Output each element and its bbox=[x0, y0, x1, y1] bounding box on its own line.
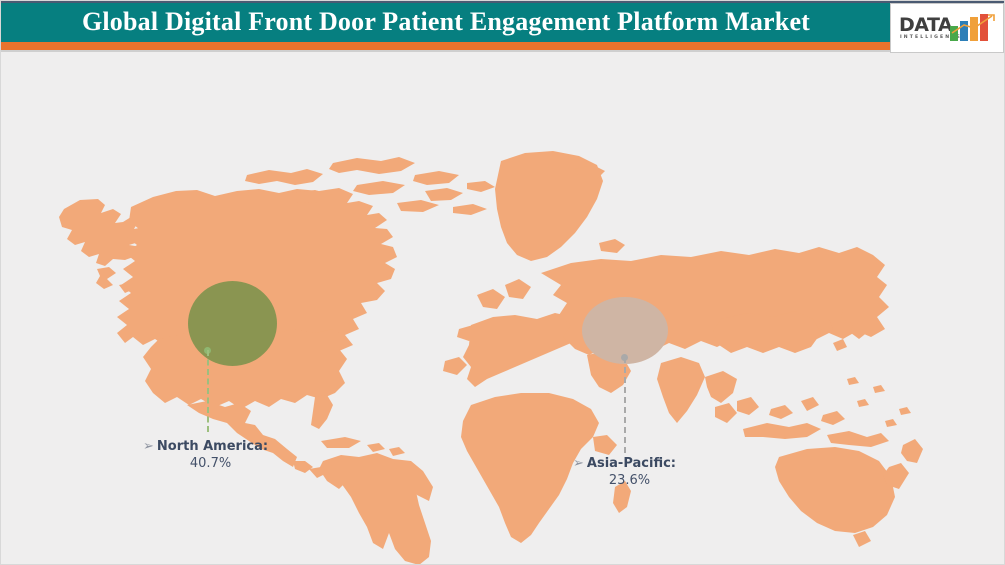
callout-north-america: ➢North America: 40.7% bbox=[143, 438, 268, 473]
bubble-marker-north-america[interactable] bbox=[188, 281, 277, 366]
callout-label-row: ➢North America: bbox=[143, 438, 268, 455]
callout-label-row: ➢Asia-Pacific: bbox=[573, 455, 676, 472]
bullet-arrow-icon: ➢ bbox=[573, 456, 584, 471]
logo-wordmark: DATA bbox=[899, 16, 952, 35]
callout-value-north-america: 40.7% bbox=[143, 455, 268, 473]
leader-line-north-america bbox=[207, 350, 209, 432]
bullet-arrow-icon: ➢ bbox=[143, 439, 154, 454]
leader-line-asia-pacific bbox=[624, 357, 626, 453]
callout-label-north-america: North America: bbox=[157, 439, 268, 454]
callout-asia-pacific: ➢Asia-Pacific: 23.6% bbox=[573, 455, 676, 490]
slide-canvas: Global Digital Front Door Patient Engage… bbox=[0, 0, 1005, 565]
world-map: ➢North America: 40.7% ➢Asia-Pacific: 23.… bbox=[1, 57, 1005, 565]
logo-inner: DATA INTELLIGENCE bbox=[897, 10, 997, 46]
bar-chart-icon bbox=[950, 14, 996, 41]
growth-arrow-icon bbox=[950, 14, 996, 41]
header-accent-bar bbox=[1, 42, 1005, 50]
callout-label-asia-pacific: Asia-Pacific: bbox=[587, 456, 676, 471]
world-map-svg bbox=[1, 57, 1005, 565]
callout-value-asia-pacific: 23.6% bbox=[573, 472, 676, 490]
header: Global Digital Front Door Patient Engage… bbox=[1, 1, 1005, 57]
page-title: Global Digital Front Door Patient Engage… bbox=[1, 1, 891, 42]
landmasses bbox=[59, 151, 923, 565]
brand-logo: DATA INTELLIGENCE bbox=[890, 3, 1004, 53]
header-accent-shadow bbox=[1, 50, 1005, 52]
